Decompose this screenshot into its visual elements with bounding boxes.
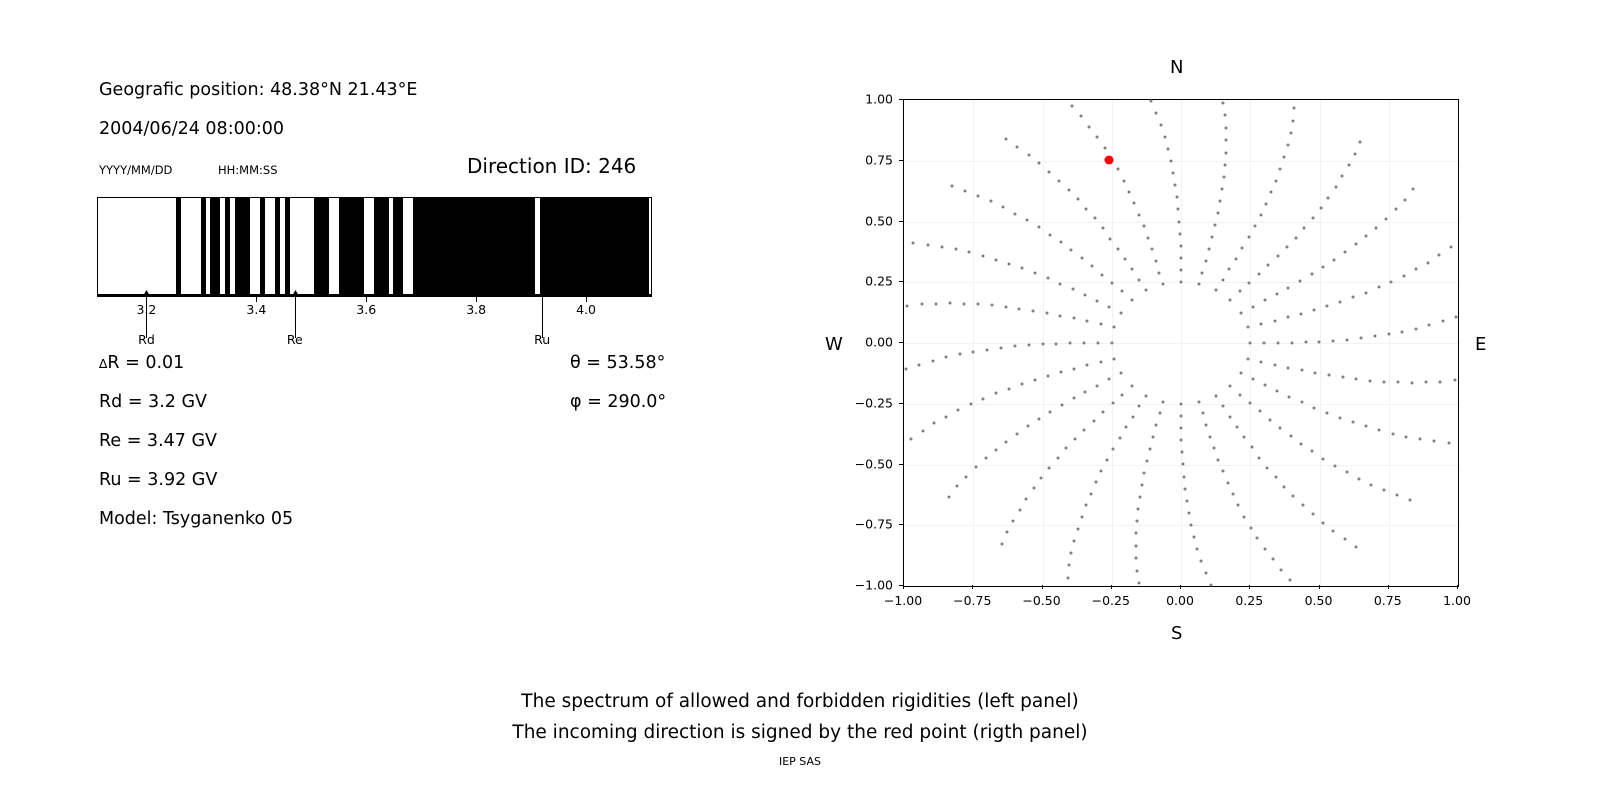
scatter-point (1180, 414, 1183, 417)
scatter-point (972, 350, 975, 353)
scatter-point (1214, 289, 1217, 292)
scatter-point (1020, 383, 1023, 386)
scatter-point (1224, 151, 1227, 154)
scatter-point (1120, 311, 1123, 314)
geographic-position-text: Geografic position: 48.38°N 21.43°E (99, 82, 699, 100)
scatter-point (1248, 281, 1251, 284)
scatter-point (1293, 107, 1296, 110)
compass-label-east: E (1475, 334, 1486, 355)
scatter-point (1158, 412, 1161, 415)
forbidden-band (176, 197, 181, 295)
scatter-point (1180, 451, 1183, 454)
scatter-point (1032, 309, 1035, 312)
scatter-point (1394, 208, 1397, 211)
caption-line-1: The spectrum of allowed and forbidden ri… (0, 686, 1600, 717)
scatter-point (1073, 539, 1076, 542)
scatter-point (1276, 390, 1279, 393)
scatter-point (1084, 390, 1087, 393)
scatter-point (1219, 200, 1222, 203)
scatter-point (1101, 411, 1104, 414)
scatter-point (1122, 179, 1125, 182)
scatter-point (1268, 418, 1271, 421)
scatter-point (1048, 466, 1051, 469)
scatter-point (1241, 246, 1244, 249)
scatter-point (1256, 537, 1259, 540)
scatter-point (1276, 341, 1279, 344)
scatter-point (1251, 305, 1254, 308)
scatter-point (1059, 282, 1062, 285)
scatter-point (906, 304, 909, 307)
scatter-point (1322, 457, 1325, 460)
scatter-point (1303, 226, 1306, 229)
scatter-point (1187, 511, 1190, 514)
plot-y-tick-label: 0.50 (837, 213, 893, 228)
plot-x-tick (1319, 585, 1320, 589)
scatter-point (1041, 343, 1044, 346)
scatter-point (1101, 227, 1104, 230)
scatter-point (1038, 417, 1041, 420)
forbidden-band (275, 197, 280, 295)
plot-y-tick (899, 403, 903, 404)
scatter-point (1048, 170, 1051, 173)
scatter-point (1007, 387, 1010, 390)
scatter-point (1332, 339, 1335, 342)
scatter-point (1185, 499, 1188, 502)
scatter-point (940, 245, 943, 248)
scatter-point (1327, 196, 1330, 199)
scatter-point (1265, 202, 1268, 205)
scatter-point (1076, 527, 1079, 530)
scatter-point (1228, 299, 1231, 302)
scatter-point (1327, 374, 1330, 377)
scatter-point (1162, 283, 1165, 286)
scatter-point (1016, 145, 1019, 148)
scatter-point (1263, 547, 1266, 550)
scatter-point (1246, 326, 1249, 329)
spectrum-axis-tick-label: 3.6 (356, 302, 376, 317)
scatter-point (1086, 320, 1089, 323)
scatter-point (1355, 545, 1358, 548)
scatter-point (1358, 140, 1361, 143)
plot-gridline-horizontal (904, 525, 1458, 526)
scatter-point (958, 353, 961, 356)
plot-y-tick-label: −0.50 (837, 456, 893, 471)
scatter-point (948, 302, 951, 305)
scatter-point (1018, 508, 1021, 511)
scatter-point (1162, 400, 1165, 403)
scatter-point (994, 392, 997, 395)
scatter-point (1196, 548, 1199, 551)
scatter-point (1411, 381, 1414, 384)
scatter-point (1094, 481, 1097, 484)
scatter-point (1113, 326, 1116, 329)
scatter-point (1290, 341, 1293, 344)
scatter-point (1300, 312, 1303, 315)
scatter-point (1180, 281, 1183, 284)
scatter-point (1267, 264, 1270, 267)
plot-x-tick-label: −0.25 (1092, 593, 1130, 608)
scatter-point (1086, 364, 1089, 367)
plot-x-tick-label: 0.75 (1374, 593, 1402, 608)
scatter-point (1027, 344, 1030, 347)
scatter-point (1100, 469, 1103, 472)
scatter-point (1294, 236, 1297, 239)
scatter-point (1251, 378, 1254, 381)
scatter-point (1339, 300, 1342, 303)
scatter-point (1332, 530, 1335, 533)
scatter-point (1135, 532, 1138, 535)
scatter-point (1382, 489, 1385, 492)
scatter-point (1005, 440, 1008, 443)
plot-y-tick (899, 221, 903, 222)
scatter-point (1179, 244, 1182, 247)
scatter-point (1319, 207, 1322, 210)
scatter-point (1266, 466, 1269, 469)
scatter-point (976, 303, 979, 306)
plot-x-tick-label: 0.50 (1305, 593, 1333, 608)
parameter-row: Model: Tsyganenko 05 (99, 509, 699, 548)
scatter-point (1243, 515, 1246, 518)
scatter-point (1409, 498, 1412, 501)
scatter-point (1221, 278, 1224, 281)
scatter-point (1280, 568, 1283, 571)
scatter-point (1355, 378, 1358, 381)
format-labels-row: YYYY/MM/DD HH:MM:SS Direction ID: 246 (99, 163, 699, 183)
scatter-point (1273, 319, 1276, 322)
plot-x-tick-label: 0.00 (1166, 593, 1194, 608)
scatter-point (904, 368, 907, 371)
scatter-point (1080, 257, 1083, 260)
scatter-point (1072, 317, 1075, 320)
scatter-point (1106, 458, 1109, 461)
scatter-point (1096, 384, 1099, 387)
parameter-label-right: θ = 53.58° (570, 353, 665, 373)
scatter-point (1364, 425, 1367, 428)
scatter-point (1224, 126, 1227, 129)
scatter-point (1359, 337, 1362, 340)
scatter-point (990, 200, 993, 203)
scatter-point (1402, 274, 1405, 277)
scatter-point (986, 348, 989, 351)
caption-line-2: The incoming direction is signed by the … (0, 717, 1600, 748)
scatter-point (1109, 237, 1112, 240)
scatter-point (1238, 393, 1241, 396)
scatter-point (1291, 119, 1294, 122)
plot-x-tick (1180, 585, 1181, 589)
scatter-point (1213, 447, 1216, 450)
scatter-point (1121, 290, 1124, 293)
scatter-point (1008, 262, 1011, 265)
scatter-point (1271, 558, 1274, 561)
scatter-point (1113, 357, 1116, 360)
scatter-point (1046, 374, 1049, 377)
scatter-point (1131, 384, 1134, 387)
spectrum-x-axis (97, 295, 652, 297)
scatter-point (1228, 268, 1231, 271)
scatter-point (1222, 176, 1225, 179)
scatter-point (1321, 521, 1324, 524)
scatter-point (1085, 207, 1088, 210)
scatter-point (1179, 269, 1182, 272)
scatter-point (1395, 494, 1398, 497)
scatter-point (990, 304, 993, 307)
scatter-point (945, 356, 948, 359)
scatter-point (1438, 254, 1441, 257)
scatter-point (1155, 112, 1158, 115)
scatter-point (1228, 415, 1231, 418)
scatter-point (974, 466, 977, 469)
scatter-point (1138, 405, 1141, 408)
plot-y-tick-label: −1.00 (837, 578, 893, 593)
scatter-point (1197, 283, 1200, 286)
scatter-point (1145, 459, 1148, 462)
forbidden-band (339, 197, 364, 295)
scatter-point (1137, 582, 1140, 585)
date-format-label: YYYY/MM/DD (99, 163, 172, 177)
figure-canvas: Geografic position: 48.38°N 21.43°E 2004… (0, 0, 1600, 800)
parameter-row: Ru = 3.92 GV (99, 470, 699, 509)
scatter-point (1313, 406, 1316, 409)
scatter-point (1249, 342, 1252, 345)
datetime-text: 2004/06/24 08:00:00 (99, 121, 699, 139)
scatter-point (1325, 411, 1328, 414)
scatter-point (1128, 190, 1131, 193)
scatter-point (1347, 164, 1350, 167)
scatter-point (926, 243, 929, 246)
scatter-point (1354, 243, 1357, 246)
scatter-point (1110, 342, 1113, 345)
scatter-point (933, 422, 936, 425)
scatter-point (1334, 186, 1337, 189)
scatter-point (1111, 402, 1114, 405)
scatter-point (1069, 342, 1072, 345)
scatter-point (1283, 485, 1286, 488)
scatter-point (1299, 279, 1302, 282)
plot-gridline-horizontal (904, 222, 1458, 223)
scatter-point (1150, 248, 1153, 251)
scatter-point (1321, 266, 1324, 269)
scatter-point (1373, 335, 1376, 338)
scatter-point (1353, 152, 1356, 155)
scatter-point (1096, 136, 1099, 139)
scatter-point (1059, 371, 1062, 374)
scatter-point (969, 403, 972, 406)
scatter-point (1116, 247, 1119, 250)
left-panel-info: Geografic position: 48.38°N 21.43°E 2004… (99, 82, 699, 138)
plot-x-tick (903, 585, 904, 589)
scatter-point (1258, 272, 1261, 275)
scatter-point (1258, 410, 1261, 413)
forbidden-band (540, 197, 649, 295)
scatter-point (1343, 538, 1346, 541)
scatter-point (1311, 217, 1314, 220)
parameter-row: Rd = 3.2 GVφ = 290.0° (99, 392, 699, 431)
plot-y-tick-label: −0.25 (837, 395, 893, 410)
scatter-point (1026, 425, 1029, 428)
scatter-point (1089, 492, 1092, 495)
spectrum-marker-arrowhead-ru (539, 290, 547, 297)
scatter-point (1076, 198, 1079, 201)
plot-x-tick (1042, 585, 1043, 589)
scatter-point (1449, 246, 1452, 249)
time-format-label: HH:MM:SS (218, 163, 278, 177)
plot-x-tick (1249, 585, 1250, 589)
scatter-point (1095, 299, 1098, 302)
plot-y-tick (899, 464, 903, 465)
scatter-point (1224, 163, 1227, 166)
forbidden-band (393, 197, 403, 295)
scatter-point (1048, 233, 1051, 236)
scatter-point (1391, 432, 1394, 435)
scatter-point (1217, 458, 1220, 461)
plot-x-tick (1111, 585, 1112, 589)
scatter-point (1247, 236, 1250, 239)
forbidden-band (374, 197, 389, 295)
scatter-point (1311, 450, 1314, 453)
plot-x-tick (1388, 585, 1389, 589)
scatter-point (1234, 257, 1237, 260)
scatter-point (1049, 410, 1052, 413)
scatter-point (1131, 299, 1134, 302)
spectrum-axis-tick-label: 3.8 (466, 302, 486, 317)
scatter-point (1131, 268, 1134, 271)
scatter-point (1273, 363, 1276, 366)
scatter-point (1125, 426, 1128, 429)
scatter-point (1221, 188, 1224, 191)
scatter-point (1258, 456, 1261, 459)
scatter-point (1351, 421, 1354, 424)
parameter-label-right: φ = 290.0° (570, 392, 666, 412)
scatter-point (1180, 439, 1183, 442)
scatter-point (1137, 507, 1140, 510)
spectrum-marker-label-rd: Rd (138, 332, 155, 347)
scatter-point (934, 302, 937, 305)
scatter-point (1079, 115, 1082, 118)
scatter-point (1070, 249, 1073, 252)
plot-y-tick-label: 0.25 (837, 274, 893, 289)
scatter-point (1108, 378, 1111, 381)
scatter-point (1145, 394, 1148, 397)
scatter-point (1314, 372, 1317, 375)
scatter-point (1083, 428, 1086, 431)
scatter-point (1345, 471, 1348, 474)
scatter-point (1091, 265, 1094, 268)
scatter-point (1238, 290, 1241, 293)
scatter-point (1260, 360, 1263, 363)
scatter-point (1083, 342, 1086, 345)
forbidden-band (201, 197, 206, 295)
spectrum-marker-arrowhead-rd (143, 290, 151, 297)
scatter-point (1378, 429, 1381, 432)
scatter-point (1369, 379, 1372, 382)
scatter-point (1116, 168, 1119, 171)
scatter-point (1237, 504, 1240, 507)
scatter-point (1118, 437, 1121, 440)
forbidden-band (413, 197, 535, 295)
scatter-point (1133, 202, 1136, 205)
scatter-point (994, 448, 997, 451)
scatter-point (1263, 341, 1266, 344)
scatter-point (1138, 495, 1141, 498)
figure-caption: The spectrum of allowed and forbidden ri… (0, 686, 1600, 748)
scatter-point (1341, 175, 1344, 178)
scatter-point (1013, 345, 1016, 348)
scatter-point (1026, 219, 1029, 222)
scatter-point (1200, 559, 1203, 562)
plot-x-tick-label: 0.25 (1235, 593, 1263, 608)
scatter-point (1403, 198, 1406, 201)
scatter-point (1221, 470, 1224, 473)
scatter-point (1300, 369, 1303, 372)
scatter-point (1405, 435, 1408, 438)
parameter-row: ∆R = 0.01θ = 53.58° (99, 353, 699, 392)
scatter-point (1176, 196, 1179, 199)
plot-gridline-horizontal (904, 343, 1458, 344)
scatter-point (1208, 248, 1211, 251)
scatter-point (1121, 393, 1124, 396)
scatter-point (1425, 381, 1428, 384)
scatter-point (1067, 188, 1070, 191)
scatter-point (1365, 291, 1368, 294)
scatter-point (1037, 226, 1040, 229)
scatter-point (957, 409, 960, 412)
plot-y-tick (899, 342, 903, 343)
forbidden-band (210, 197, 220, 295)
parameter-label-left: Rd = 3.2 GV (99, 392, 207, 412)
parameter-list: ∆R = 0.01θ = 53.58°Rd = 3.2 GVφ = 290.0°… (99, 353, 699, 548)
scatter-point (1289, 434, 1292, 437)
scatter-point (1318, 340, 1321, 343)
plot-y-tick (899, 281, 903, 282)
scatter-point (1455, 315, 1458, 318)
scatter-point (1414, 268, 1417, 271)
scatter-point (1289, 578, 1292, 581)
scatter-point (1313, 309, 1316, 312)
parameter-row: Re = 3.47 GV (99, 431, 699, 470)
plot-y-tick-label: 0.00 (837, 335, 893, 350)
forbidden-band (225, 197, 230, 295)
scatter-point (1148, 447, 1151, 450)
scatter-point (1000, 346, 1003, 349)
scatter-point (1401, 330, 1404, 333)
scatter-point (1136, 569, 1139, 572)
scatter-point (1059, 314, 1062, 317)
scatter-point (1387, 333, 1390, 336)
scatter-point (1014, 212, 1017, 215)
scatter-point (1084, 504, 1087, 507)
scatter-point (1158, 271, 1161, 274)
scatter-point (1178, 220, 1181, 223)
scatter-point (1253, 225, 1256, 228)
scatter-point (1134, 544, 1137, 547)
scatter-point (1177, 208, 1180, 211)
parameter-label-left: Ru = 3.92 GV (99, 470, 217, 490)
plot-y-tick-label: 0.75 (837, 152, 893, 167)
scatter-point (1073, 367, 1076, 370)
direction-id-label: Direction ID: 246 (467, 154, 636, 178)
scatter-point (1083, 293, 1086, 296)
plot-x-tick-label: −0.75 (953, 593, 991, 608)
scatter-point (1174, 184, 1177, 187)
scatter-point (1181, 463, 1184, 466)
scatter-point (1135, 557, 1138, 560)
plot-x-tick (1457, 585, 1458, 589)
scatter-point (947, 495, 950, 498)
rigidity-spectrum-bar (97, 197, 652, 295)
scatter-point (1099, 323, 1102, 326)
scatter-point (1292, 495, 1295, 498)
scatter-point (1300, 401, 1303, 404)
